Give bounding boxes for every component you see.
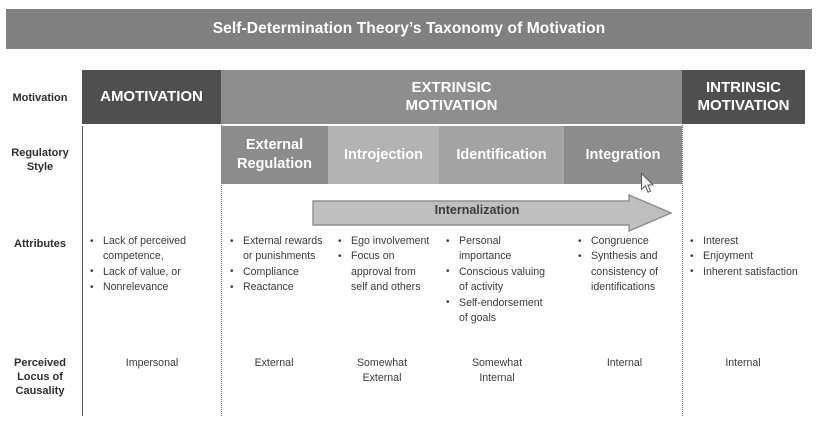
bullet-icon: • <box>90 264 94 279</box>
regulatory-style-external-regulation: External Regulation <box>221 126 328 184</box>
list-item-text: Nonrelevance <box>103 281 168 293</box>
list-item: •Lack of value, or <box>88 265 212 280</box>
divider-label-column <box>82 126 83 416</box>
list-item: •Compliance <box>228 265 326 280</box>
list-item: •Congruence <box>576 234 676 249</box>
list-item: •Self-endorsement of goals <box>444 296 554 327</box>
list-item-text: Enjoyment <box>703 250 753 262</box>
list-item-text: Interest <box>703 235 738 247</box>
band-extrinsic-motivation-label: EXTRINSIC MOTIVATION <box>406 79 498 115</box>
list-item-text: Ego involvement <box>351 235 429 247</box>
attributes-list-integration: •Congruence •Synthesis and consistency o… <box>576 234 676 296</box>
row-label-regulatory-style: Regulatory Style <box>0 146 80 174</box>
plc-cell-introjection: Somewhat External <box>332 356 432 386</box>
list-item: •Enjoyment <box>688 249 798 264</box>
plc-cell-identification: Somewhat Internal <box>442 356 552 386</box>
bullet-icon: • <box>690 249 694 264</box>
row-label-regulatory-style-line2: Style <box>0 160 80 174</box>
bullet-icon: • <box>690 234 694 249</box>
band-intrinsic-motivation-label: INTRINSIC MOTIVATION <box>698 79 790 115</box>
list-item: •External rewards or punishments <box>228 234 326 265</box>
bullet-icon: • <box>338 249 342 264</box>
list-item-text: External rewards or punishments <box>243 235 322 262</box>
bullet-icon: • <box>90 280 94 295</box>
list-item-text: Focus on approval from self and others <box>351 250 421 293</box>
row-label-regulatory-style-line1: Regulatory <box>0 146 80 160</box>
plc-cell-intrinsic: Internal <box>688 356 798 371</box>
plc-cell-integration: Internal <box>572 356 677 371</box>
regulatory-style-identification-label: Identification <box>456 146 546 165</box>
bullet-icon: • <box>690 264 694 279</box>
attributes-list-introjection: •Ego involvement •Focus on approval from… <box>336 234 432 296</box>
list-item-text: Conscious valuing of activity <box>459 266 545 293</box>
list-item-text: Congruence <box>591 235 649 247</box>
bullet-icon: • <box>90 234 94 249</box>
list-item: •Interest <box>688 234 798 249</box>
regulatory-style-integration: Integration <box>564 126 682 184</box>
list-item: •Reactance <box>228 280 326 295</box>
plc-cell-external-regulation: External <box>224 356 324 371</box>
attributes-list-external-regulation: •External rewards or punishments •Compli… <box>228 234 326 296</box>
bullet-icon: • <box>230 234 234 249</box>
row-label-attributes: Attributes <box>0 237 80 251</box>
regulatory-style-identification: Identification <box>439 126 564 184</box>
bullet-icon: • <box>338 234 342 249</box>
list-item-text: Inherent satisfaction <box>703 266 798 278</box>
band-extrinsic-line2: MOTIVATION <box>406 97 498 115</box>
plc-introjection-line2: External <box>332 371 432 386</box>
plc-identification-line1: Somewhat <box>442 356 552 371</box>
row-label-plc-line1: Perceived <box>0 356 80 370</box>
band-intrinsic-line2: MOTIVATION <box>698 97 790 115</box>
list-item: •Nonrelevance <box>88 280 212 295</box>
attributes-column-external-regulation: •External rewards or punishments •Compli… <box>228 234 326 296</box>
list-item: •Inherent satisfaction <box>688 265 798 280</box>
list-item-text: Personal importance <box>459 235 511 262</box>
list-item: •Lack of perceived competence, <box>88 234 212 265</box>
bullet-icon: • <box>578 249 582 264</box>
bullet-icon: • <box>578 234 582 249</box>
list-item-text: Lack of perceived competence, <box>103 235 186 262</box>
attributes-column-introjection: •Ego involvement •Focus on approval from… <box>336 234 432 296</box>
attributes-list-amotivation: •Lack of perceived competence, •Lack of … <box>88 234 212 296</box>
attributes-column-amotivation: •Lack of perceived competence, •Lack of … <box>88 234 212 296</box>
list-item-text: Reactance <box>243 281 294 293</box>
row-label-motivation: Motivation <box>0 91 80 105</box>
list-item: •Conscious valuing of activity <box>444 265 554 296</box>
list-item: •Ego involvement <box>336 234 432 249</box>
band-extrinsic-motivation: EXTRINSIC MOTIVATION <box>221 70 682 124</box>
list-item-text: Self-endorsement of goals <box>459 297 543 324</box>
plc-cell-amotivation: Impersonal <box>88 356 216 371</box>
row-label-plc-line2: Locus of <box>0 370 80 384</box>
band-intrinsic-line1: INTRINSIC <box>698 79 790 97</box>
regulatory-style-introjection-label: Introjection <box>344 146 423 165</box>
band-intrinsic-motivation: INTRINSIC MOTIVATION <box>682 70 805 124</box>
sdt-taxonomy-figure: Self-Determination Theory’s Taxonomy of … <box>0 0 820 426</box>
attributes-column-identification: •Personal importance •Conscious valuing … <box>444 234 554 326</box>
row-label-plc-line3: Causality <box>0 384 80 398</box>
band-extrinsic-line1: EXTRINSIC <box>406 79 498 97</box>
band-amotivation-label: AMOTIVATION <box>100 88 203 106</box>
plc-identification-line2: Internal <box>442 371 552 386</box>
list-item: •Personal importance <box>444 234 554 265</box>
list-item-text: Compliance <box>243 266 299 278</box>
regulatory-style-external-regulation-label: External Regulation <box>237 136 312 174</box>
list-item: •Focus on approval from self and others <box>336 249 432 295</box>
regulatory-style-integration-label: Integration <box>586 146 661 165</box>
list-item-text: Synthesis and consistency of identificat… <box>591 250 658 293</box>
page-title: Self-Determination Theory’s Taxonomy of … <box>213 20 606 38</box>
bullet-icon: • <box>446 295 450 310</box>
regulatory-style-introjection: Introjection <box>328 126 439 184</box>
list-item-text: Lack of value, or <box>103 266 181 278</box>
list-item: •Synthesis and consistency of identifica… <box>576 249 676 295</box>
bullet-icon: • <box>230 280 234 295</box>
plc-introjection-line1: Somewhat <box>332 356 432 371</box>
bullet-icon: • <box>446 234 450 249</box>
bullet-icon: • <box>446 264 450 279</box>
attributes-list-identification: •Personal importance •Conscious valuing … <box>444 234 554 326</box>
reg-external-line2: Regulation <box>237 155 312 174</box>
row-label-perceived-locus-of-causality: Perceived Locus of Causality <box>0 356 80 398</box>
attributes-column-integration: •Congruence •Synthesis and consistency o… <box>576 234 676 296</box>
reg-external-line1: External <box>237 136 312 155</box>
attributes-column-intrinsic: •Interest •Enjoyment •Inherent satisfact… <box>688 234 798 280</box>
internalization-label: Internalization <box>312 203 642 217</box>
attributes-list-intrinsic: •Interest •Enjoyment •Inherent satisfact… <box>688 234 798 280</box>
figure-title-bar: Self-Determination Theory’s Taxonomy of … <box>6 9 812 49</box>
bullet-icon: • <box>230 264 234 279</box>
band-amotivation: AMOTIVATION <box>82 70 221 124</box>
